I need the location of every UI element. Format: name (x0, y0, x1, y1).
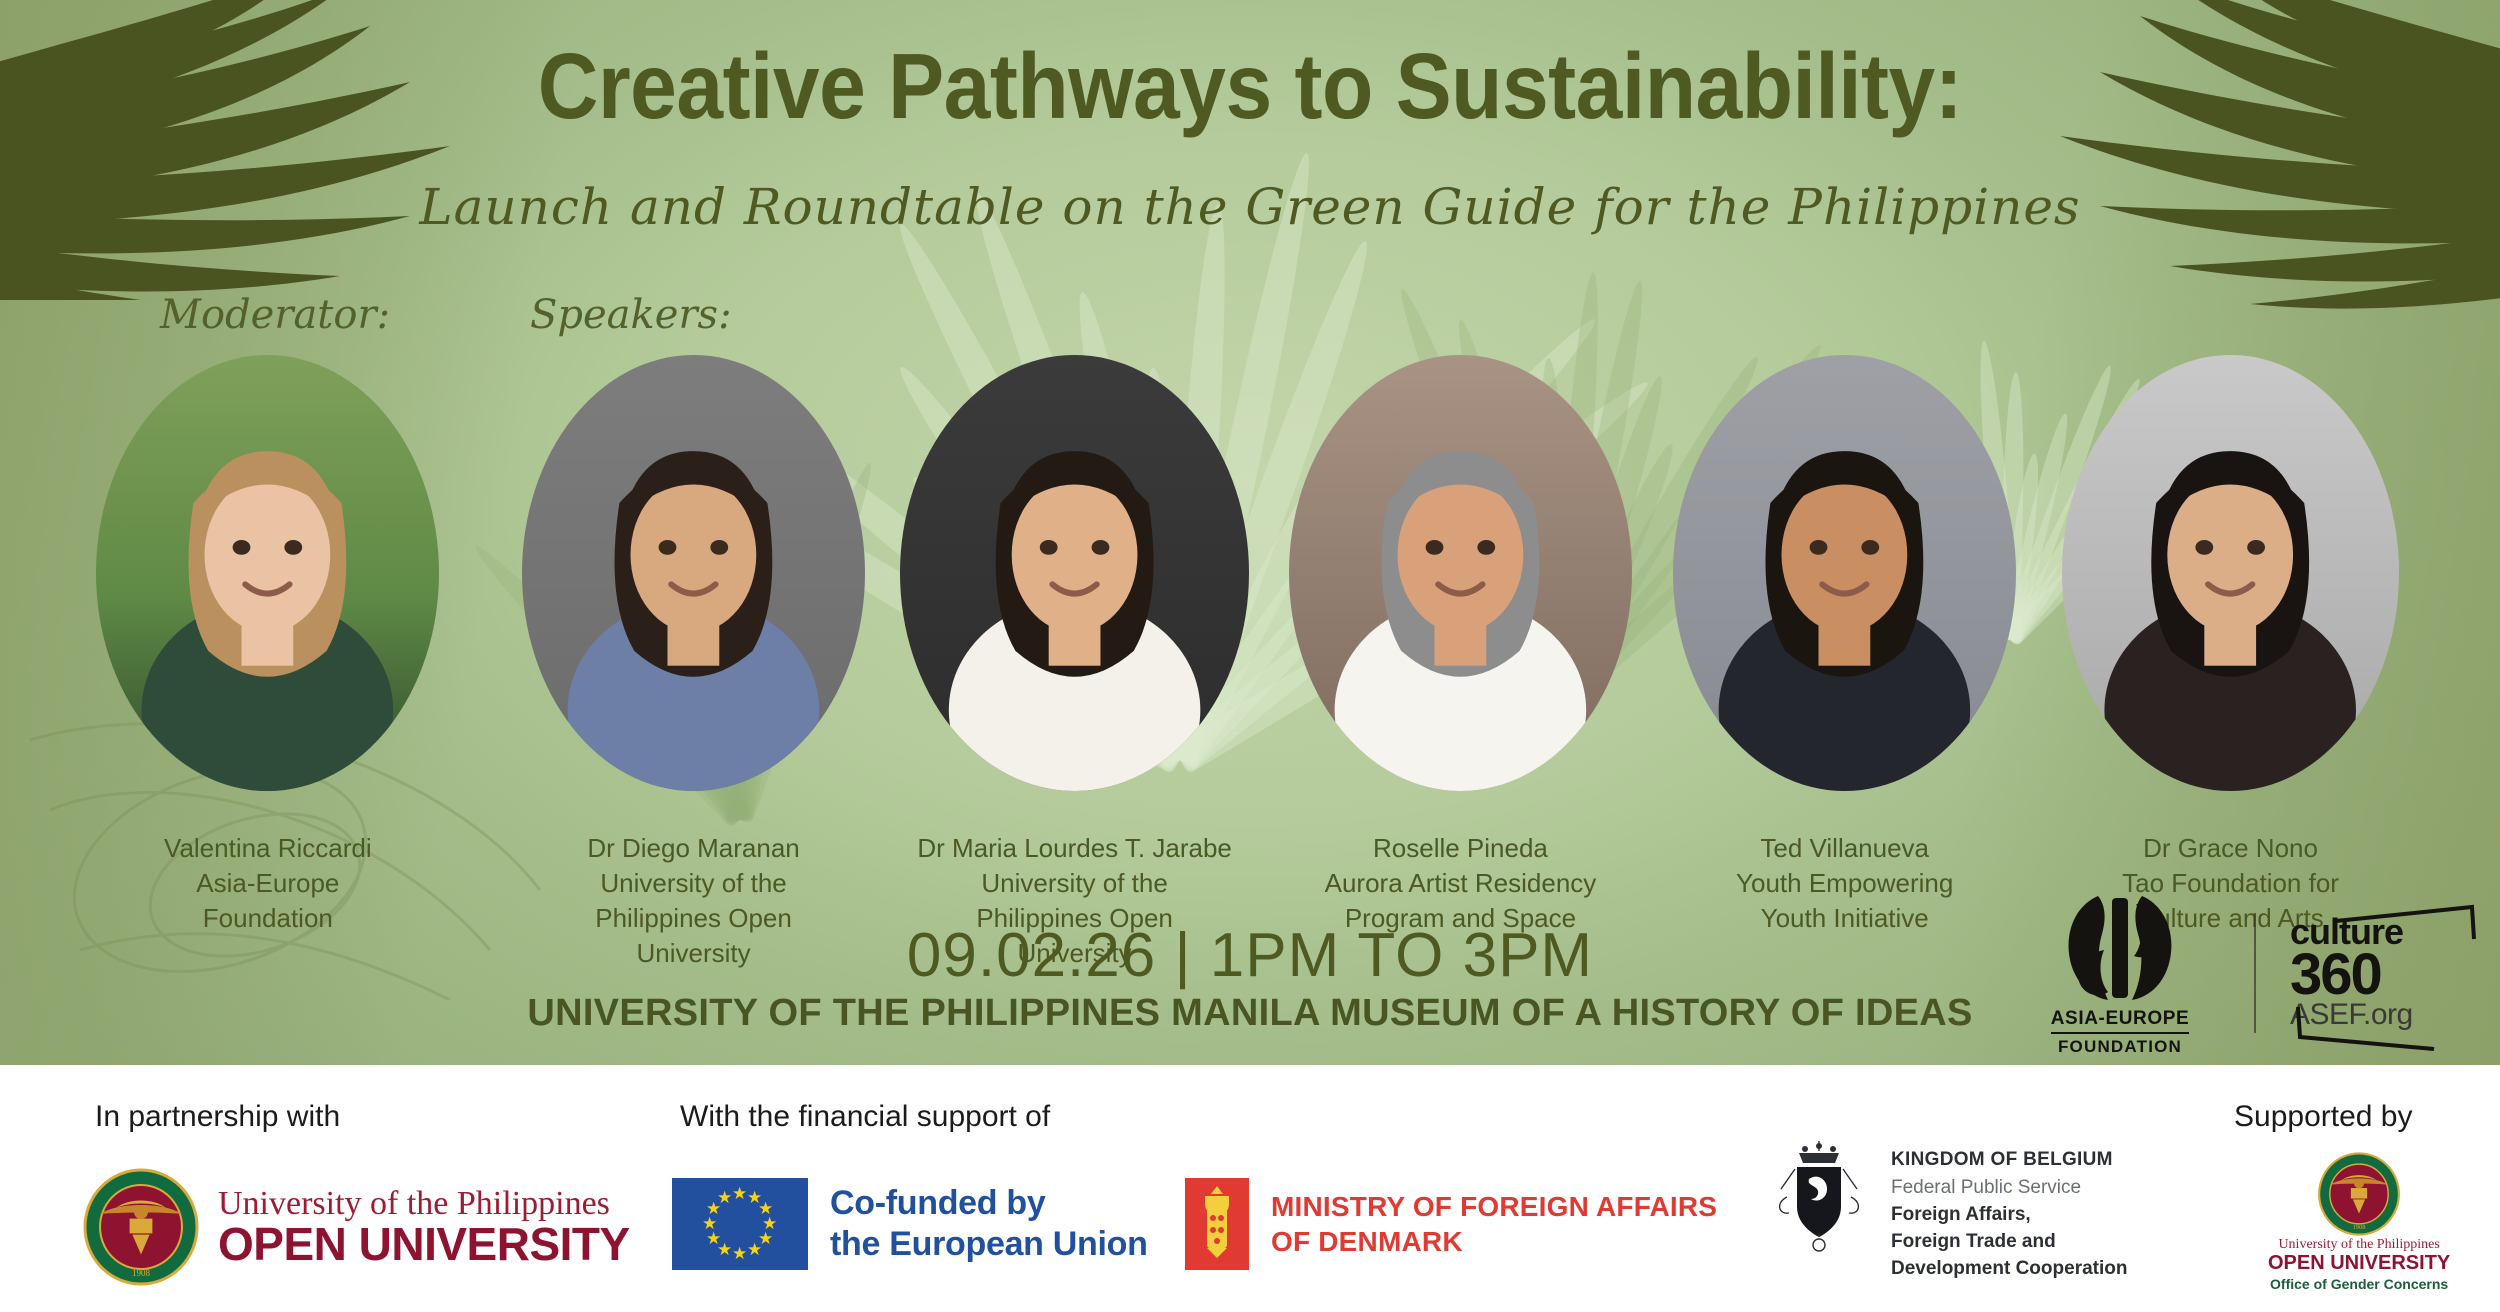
avatar (522, 355, 865, 791)
page-title: Creative Pathways to Sustainability: (0, 33, 2500, 140)
avatar (1673, 355, 2016, 791)
up-gender-office-logo: 1908 University of the Philippines OPEN … (2268, 1152, 2450, 1292)
eu-line1: Co-funded by (830, 1183, 1148, 1224)
person-affiliation: Asia-Europe (98, 866, 438, 901)
speaker-card (522, 355, 865, 791)
up-seal-icon: 1908 (82, 1168, 200, 1286)
person-name: Ted Villanueva (1675, 831, 2015, 866)
portrait-photo (96, 355, 439, 791)
asef-logo: ASIA-EUROPE FOUNDATION (2020, 888, 2220, 1057)
person-name: Valentina Riccardi (98, 831, 438, 866)
person-name: Dr Diego Maranan (524, 831, 864, 866)
belgium-line3: Foreign Affairs,Foreign Trade andDevelop… (1891, 1202, 2127, 1283)
up-gender-line1: University of the Philippines (2268, 1238, 2450, 1253)
moderator-label: Moderator: (160, 292, 390, 338)
eu-line2: the European Union (830, 1224, 1148, 1265)
avatar (96, 355, 439, 791)
portrait-photo (522, 355, 865, 791)
up-open-university-logo: 1908 University of the Philippines OPEN … (82, 1168, 630, 1286)
eu-star-icon: ★ (732, 1245, 747, 1262)
denmark-line2: OF DENMARK (1271, 1224, 1717, 1259)
logo-divider (2254, 913, 2256, 1033)
person-name: Dr Grace Nono (2061, 831, 2401, 866)
european-union-logo: ★★★★★★★★★★★★ Co-funded by the European U… (672, 1178, 1148, 1270)
people-row: Valentina RiccardiAsia-EuropeFoundationD… (0, 355, 2500, 685)
poster-hero: Creative Pathways to Sustainability: Lau… (0, 0, 2500, 1065)
avatar (900, 355, 1249, 791)
person-affiliation: Aurora Artist Residency (1290, 866, 1630, 901)
avatar (2062, 355, 2398, 791)
eu-star-icon: ★ (747, 1241, 762, 1258)
eu-star-icon: ★ (717, 1189, 732, 1206)
moderator-card (96, 355, 439, 791)
event-poster: Creative Pathways to Sustainability: Lau… (0, 0, 2500, 1312)
partnership-label: In partnership with (95, 1100, 340, 1134)
belgium-fps-logo: KINGDOM OF BELGIUM Federal Public Servic… (1765, 1135, 2127, 1283)
page-subtitle: Launch and Roundtable on the Green Guide… (0, 178, 2500, 236)
up-gender-line3: Office of Gender Concerns (2268, 1276, 2450, 1293)
supported-by-label: Supported by (2234, 1100, 2412, 1134)
belgium-line1: KINGDOM OF BELGIUM (1891, 1149, 2127, 1171)
speaker-card (1289, 355, 1632, 791)
portrait-photo (1673, 355, 2016, 791)
asef-name-line2: FOUNDATION (2058, 1037, 2182, 1057)
denmark-line1: MINISTRY OF FOREIGN AFFAIRS (1271, 1189, 1717, 1224)
asef-butterfly-icon (2040, 888, 2200, 1008)
svg-text:1908: 1908 (2353, 1224, 2366, 1231)
belgium-coat-of-arms-icon (1765, 1135, 1873, 1263)
portrait-photo (1289, 355, 1632, 791)
up-gender-line2: OPEN UNIVERSITY (2268, 1253, 2450, 1274)
denmark-crest-icon (1185, 1178, 1249, 1270)
up-logo-line2: OPEN UNIVERSITY (218, 1221, 630, 1268)
belgium-line2: Federal Public Service (1891, 1177, 2127, 1199)
portrait-photo (2062, 355, 2398, 791)
denmark-mfa-logo: MINISTRY OF FOREIGN AFFAIRS OF DENMARK (1185, 1178, 1717, 1270)
speaker-card (900, 355, 1249, 791)
culture360-logo: culture 360 ASEF.org (2290, 915, 2470, 1030)
eu-flag-icon: ★★★★★★★★★★★★ (672, 1178, 808, 1270)
speaker-card (2062, 355, 2398, 791)
eu-star-icon: ★ (732, 1185, 747, 1202)
person-affiliation: Youth Empowering (1675, 866, 2015, 901)
portrait-photo (900, 355, 1249, 791)
svg-text:1908: 1908 (132, 1268, 151, 1278)
person-name: Dr Maria Lourdes T. Jarabe (905, 831, 1245, 866)
avatar (1289, 355, 1632, 791)
speakers-label: Speakers: (530, 292, 732, 338)
speaker-card (1673, 355, 2016, 791)
up-seal-icon: 1908 (2317, 1152, 2401, 1236)
person-affiliation: University of the (905, 866, 1245, 901)
financial-support-label: With the financial support of (680, 1100, 1050, 1134)
up-logo-line1: University of the Philippines (218, 1186, 630, 1222)
asef-name-line1: ASIA-EUROPE (2051, 1008, 2190, 1034)
person-affiliation: University of the (524, 866, 864, 901)
organiser-logo-lockup: ASIA-EUROPE FOUNDATION culture 360 ASEF.… (2020, 888, 2470, 1057)
culture360-bracket-icon (2284, 899, 2484, 1059)
person-name: Roselle Pineda (1290, 831, 1630, 866)
